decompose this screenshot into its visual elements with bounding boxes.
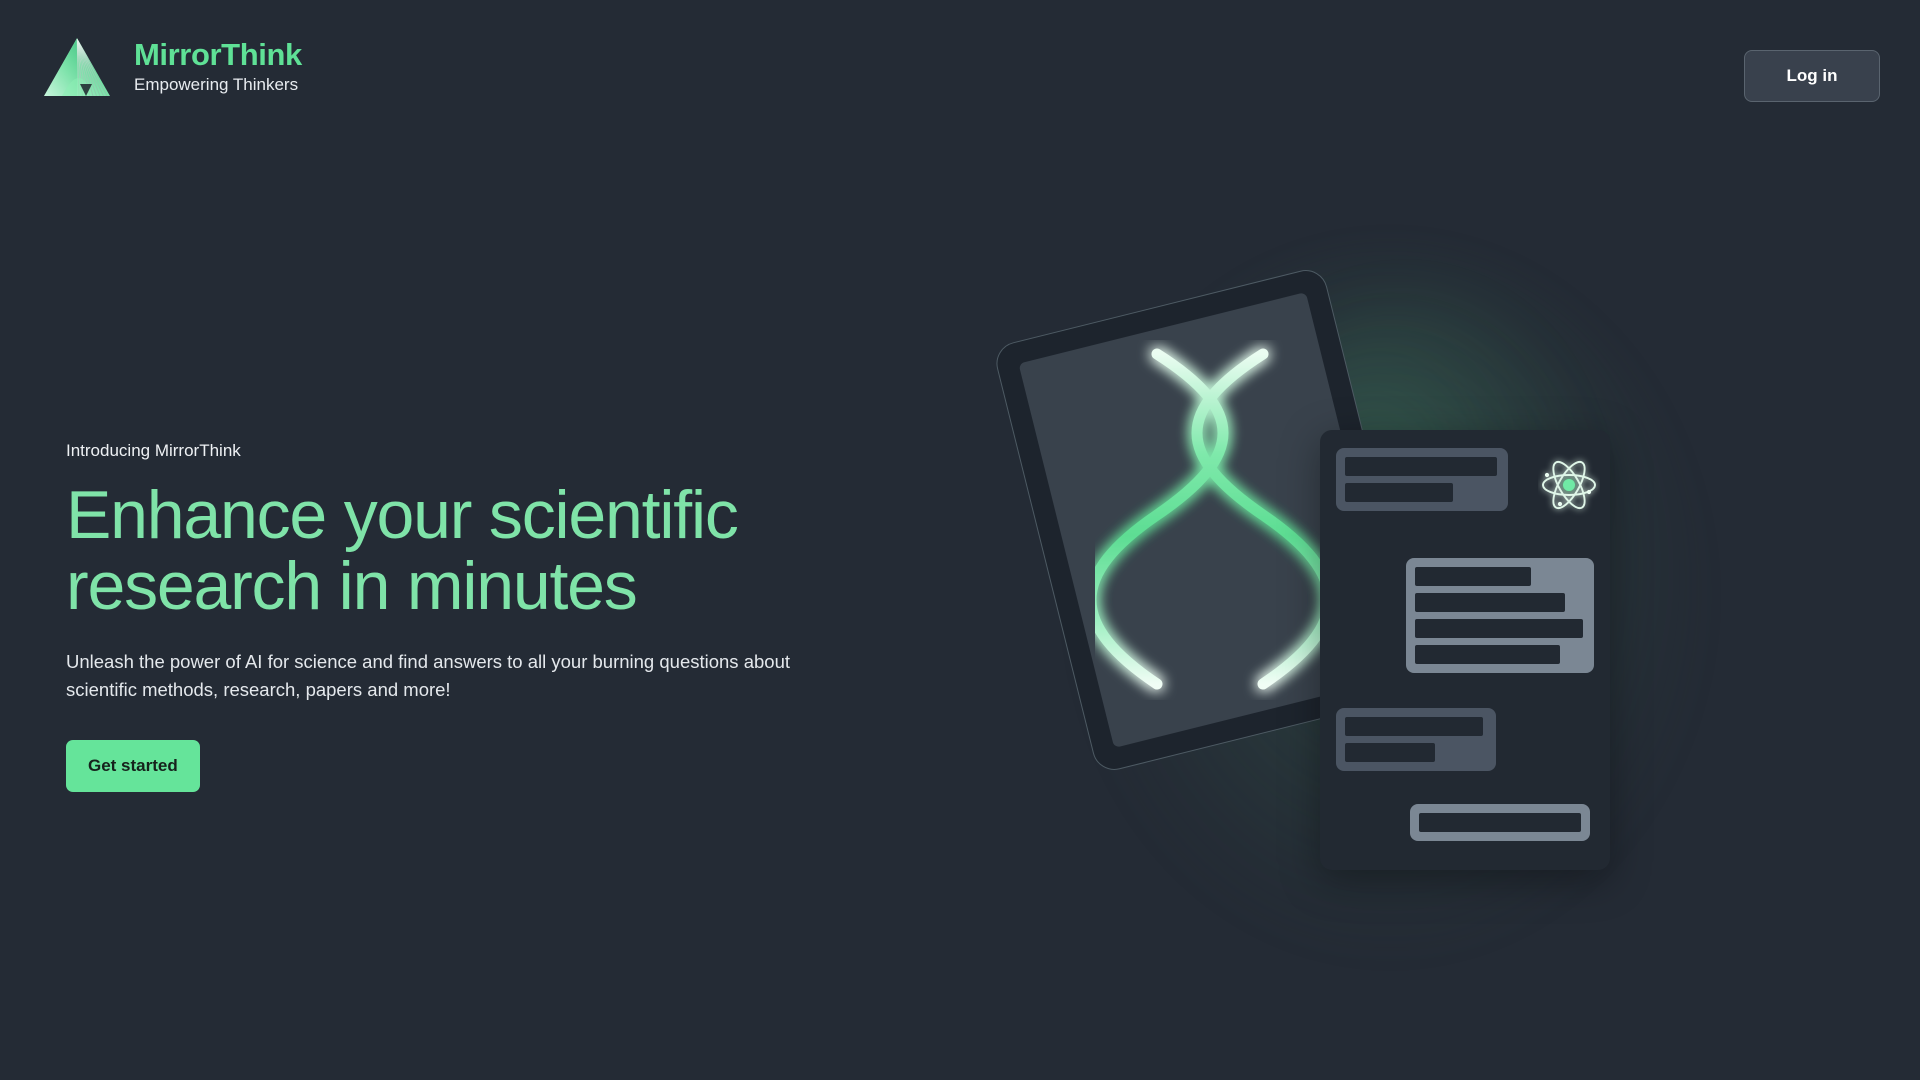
brand-name: MirrorThink xyxy=(134,38,302,73)
hero-eyebrow: Introducing MirrorThink xyxy=(66,440,886,462)
get-started-button[interactable]: Get started xyxy=(66,740,200,792)
brand-logo-link[interactable]: MirrorThink Empowering Thinkers xyxy=(40,32,302,102)
message-line xyxy=(1415,645,1560,664)
message-line xyxy=(1415,593,1565,612)
login-button[interactable]: Log in xyxy=(1744,50,1880,102)
chat-document-card-icon xyxy=(1320,430,1610,870)
atom-icon xyxy=(1538,454,1600,516)
hero-copy: Introducing MirrorThink Enhance your sci… xyxy=(66,440,886,792)
landing-page: MirrorThink Empowering Thinkers Log in I… xyxy=(0,0,1920,1080)
message-line xyxy=(1345,743,1435,762)
message-bubble-4 xyxy=(1410,804,1590,841)
triangle-prism-logo-icon xyxy=(40,32,114,102)
dna-helix-icon xyxy=(1095,340,1325,700)
hero-subhead: Unleash the power of AI for science and … xyxy=(66,648,846,704)
hero-headline: Enhance your scientific research in minu… xyxy=(66,480,806,622)
message-line xyxy=(1419,813,1581,832)
message-bubble-3 xyxy=(1336,708,1496,771)
message-bubble-1 xyxy=(1336,448,1508,511)
page-header: MirrorThink Empowering Thinkers Log in xyxy=(0,0,1920,128)
message-line xyxy=(1345,717,1483,736)
brand-text-block: MirrorThink Empowering Thinkers xyxy=(134,38,302,95)
message-line xyxy=(1345,483,1453,502)
message-bubble-2 xyxy=(1406,558,1594,673)
hero-illustration xyxy=(1020,310,1720,940)
message-line xyxy=(1415,567,1531,586)
brand-tagline: Empowering Thinkers xyxy=(134,75,302,95)
message-line xyxy=(1415,619,1583,638)
message-line xyxy=(1345,457,1497,476)
